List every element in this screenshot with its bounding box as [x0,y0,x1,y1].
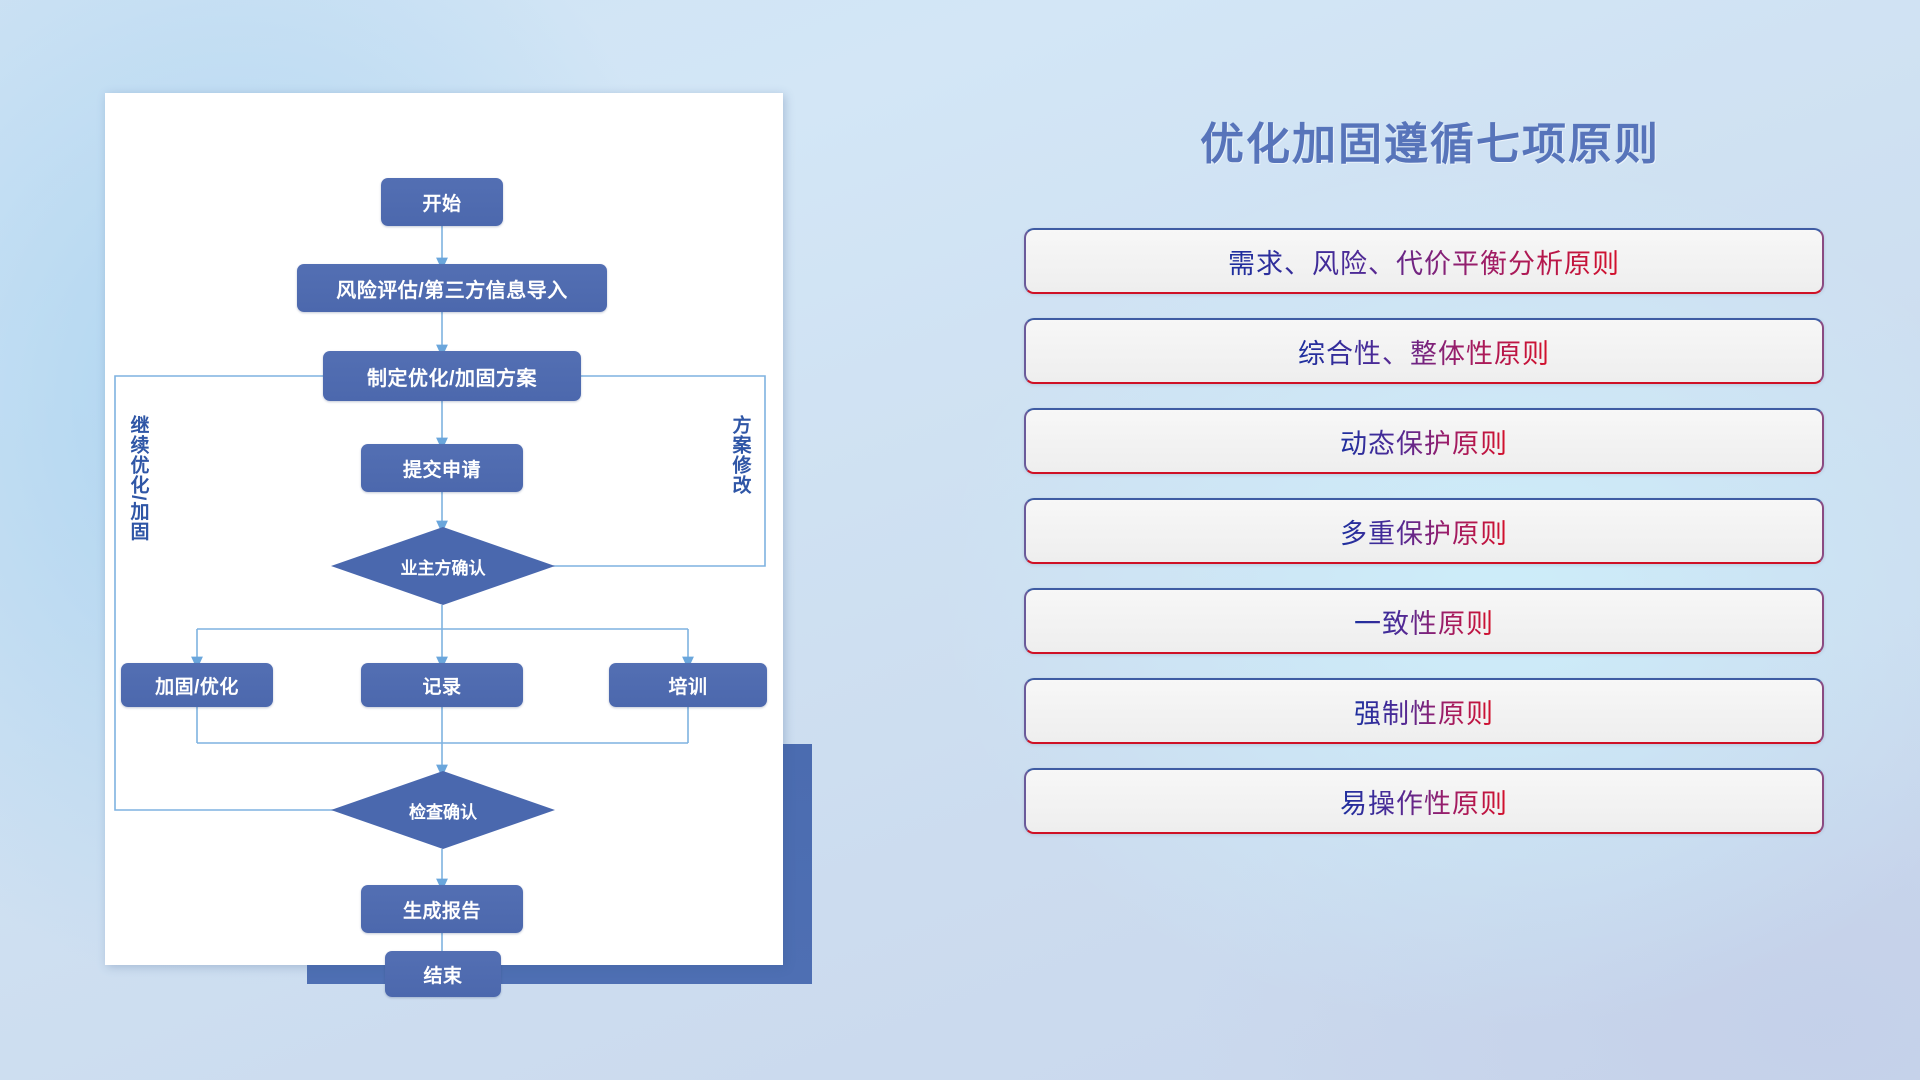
flow-node-risk-assessment[interactable]: 风险评估/第三方信息导入 [297,264,607,312]
flow-node-label: 培训 [668,672,707,699]
flow-node-label: 生成报告 [403,896,481,923]
flowchart-card: 开始 风险评估/第三方信息导入 制定优化/加固方案 提交申请 业主方确认 加固/… [105,93,783,965]
principle-label: 易操作性原则 [1340,782,1508,821]
flow-node-start[interactable]: 开始 [381,178,503,226]
principle-item[interactable]: 多重保护原则 [1024,498,1824,564]
principle-item[interactable]: 动态保护原则 [1024,408,1824,474]
flow-node-label: 风险评估/第三方信息导入 [336,274,568,303]
flow-node-label: 结束 [423,961,462,988]
flow-node-label: 制定优化/加固方案 [367,362,537,391]
plan-revise-label: 方案修改 [729,415,750,545]
principle-item[interactable]: 综合性、整体性原则 [1024,318,1824,384]
principle-label: 一致性原则 [1354,602,1494,641]
principle-label: 综合性、整体性原则 [1298,332,1550,371]
principle-label: 需求、风险、代价平衡分析原则 [1228,242,1620,281]
flow-node-submit-application[interactable]: 提交申请 [361,444,523,492]
principles-region: 优化加固遵循七项原则 需求、风险、代价平衡分析原则 综合性、整体性原则 动态保护… [1020,0,1920,1080]
principle-item[interactable]: 易操作性原则 [1024,768,1824,834]
flow-node-generate-report[interactable]: 生成报告 [361,885,523,933]
flow-node-label: 检查确认 [409,798,477,823]
flow-node-label: 记录 [422,672,461,699]
flow-node-label: 业主方确认 [401,554,486,579]
flow-node-end[interactable]: 结束 [385,951,501,997]
principle-label: 强制性原则 [1354,692,1494,731]
principle-label: 动态保护原则 [1340,422,1508,461]
flow-node-label: 加固/优化 [155,672,239,699]
principle-item[interactable]: 一致性原则 [1024,588,1824,654]
flow-node-make-plan[interactable]: 制定优化/加固方案 [323,351,581,401]
flow-node-label: 开始 [422,189,461,216]
flowchart-region: 开始 风险评估/第三方信息导入 制定优化/加固方案 提交申请 业主方确认 加固/… [0,0,820,1080]
principles-list: 需求、风险、代价平衡分析原则 综合性、整体性原则 动态保护原则 多重保护原则 一… [1024,228,1824,858]
flow-node-training[interactable]: 培训 [609,663,767,707]
continue-optimize-label: 继续优化/加固 [127,415,148,615]
flow-node-reinforce-optimize[interactable]: 加固/优化 [121,663,273,707]
flow-node-label: 提交申请 [403,455,481,482]
flow-node-record[interactable]: 记录 [361,663,523,707]
principle-item[interactable]: 需求、风险、代价平衡分析原则 [1024,228,1824,294]
principle-label: 多重保护原则 [1340,512,1508,551]
principle-item[interactable]: 强制性原则 [1024,678,1824,744]
page-title: 优化加固遵循七项原则 [1020,108,1840,172]
